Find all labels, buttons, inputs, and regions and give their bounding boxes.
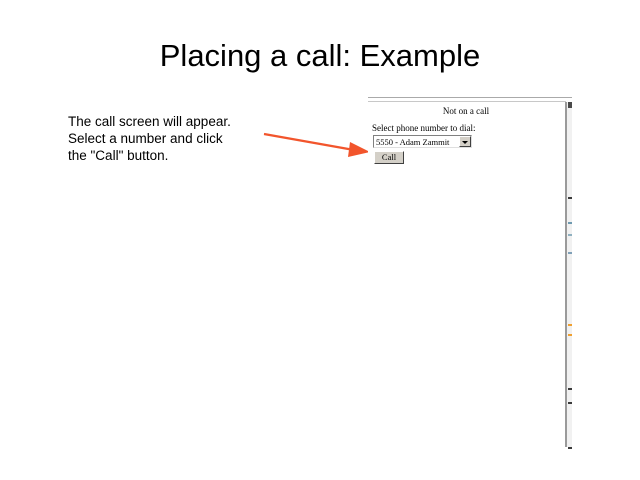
body-text-line: The call screen will appear. — [68, 113, 288, 130]
panel-top-edge — [368, 97, 572, 98]
embedded-screenshot: Not on a call Select phone number to dia… — [368, 97, 572, 452]
scrollbar-mark — [568, 222, 572, 224]
scrollbar-mark — [568, 447, 572, 449]
scrollbar-mark — [568, 334, 572, 336]
scrollbar-thumb[interactable] — [568, 102, 572, 108]
phone-number-select[interactable]: 5550 - Adam Zammit — [373, 135, 472, 148]
page-title: Placing a call: Example — [0, 38, 640, 74]
phone-number-select-value: 5550 - Adam Zammit — [376, 137, 449, 147]
arrow-head — [348, 142, 370, 157]
call-button[interactable]: Call — [374, 151, 404, 164]
chevron-down-icon[interactable] — [459, 136, 471, 147]
phone-select-label: Select phone number to dial: — [372, 123, 475, 133]
scrollbar-mark — [568, 324, 572, 326]
body-text-line: the "Call" button. — [68, 147, 288, 164]
call-status-text: Not on a call — [368, 106, 564, 116]
call-screen: Not on a call Select phone number to dia… — [368, 102, 566, 447]
body-text-line: Select a number and click — [68, 130, 288, 147]
body-text-block: The call screen will appear. Select a nu… — [68, 113, 288, 164]
scrollbar-mark — [568, 197, 572, 199]
scrollbar-mark — [568, 388, 572, 390]
scrollbar-mark — [568, 234, 572, 236]
panel-scrollbar[interactable] — [566, 102, 572, 447]
scrollbar-mark — [568, 252, 572, 254]
scrollbar-mark — [568, 402, 572, 404]
presentation-slide: Placing a call: Example The call screen … — [0, 0, 640, 480]
